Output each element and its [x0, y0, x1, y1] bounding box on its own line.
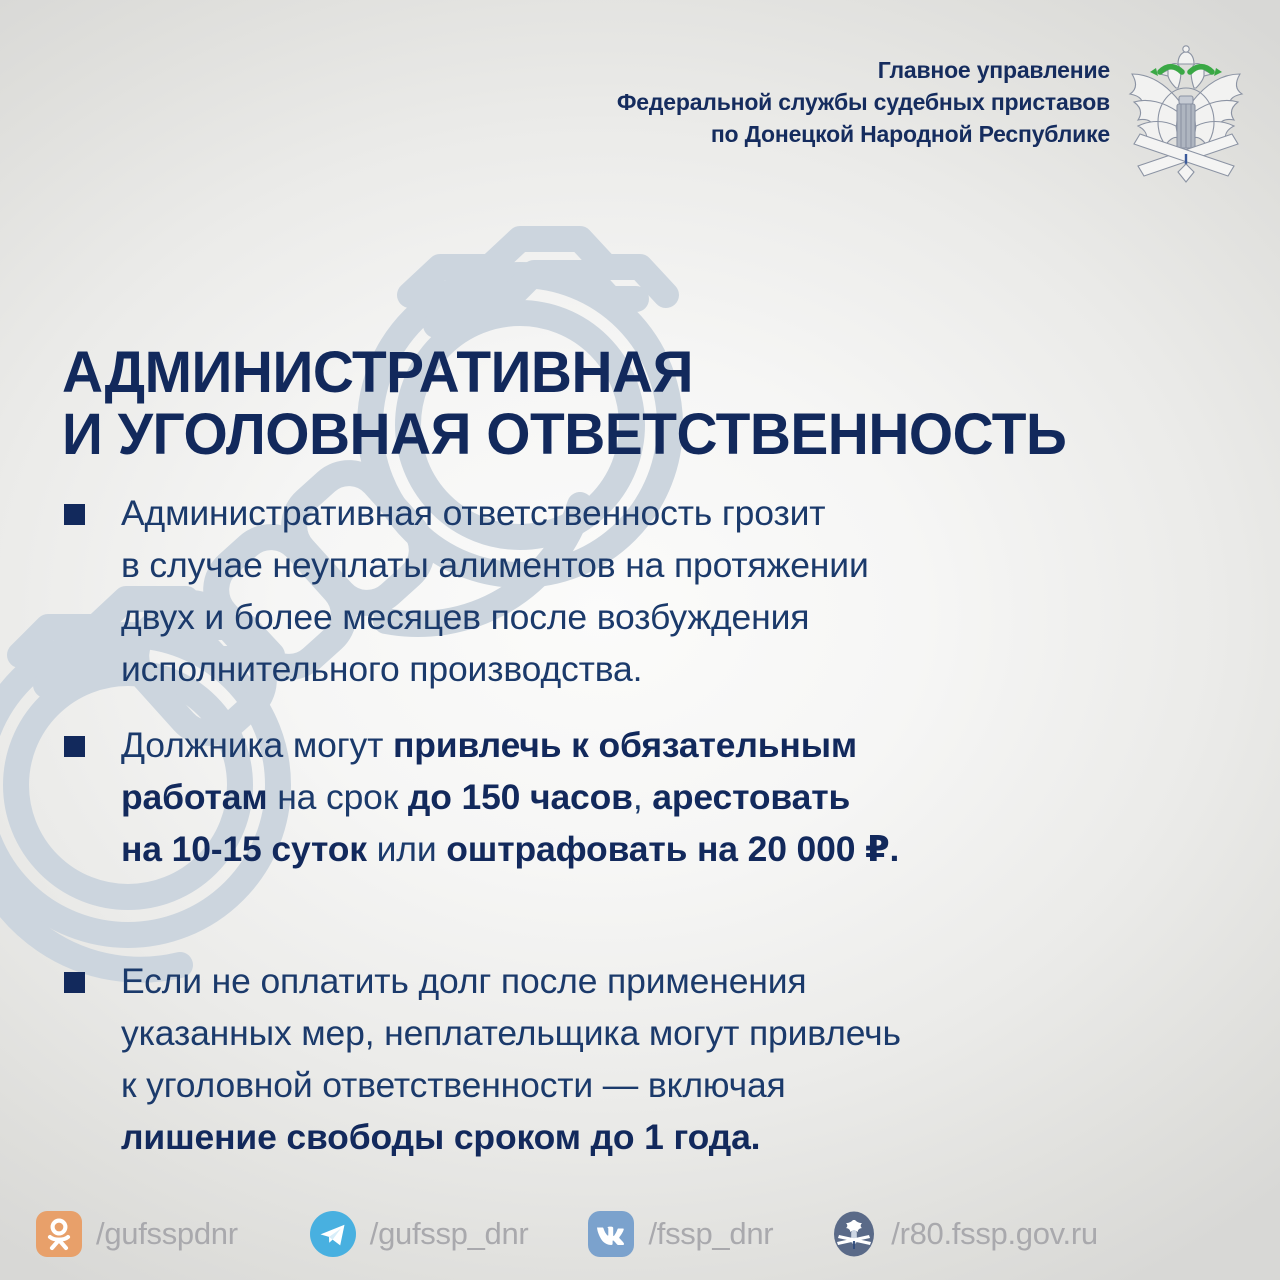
page-title: АДМИНИСТРАТИВНАЯ И УГОЛОВНАЯ ОТВЕТСТВЕНН… [62, 342, 1066, 466]
header-line-2: Федеральной службы судебных приставов [617, 86, 1110, 118]
list-item-text: Должника могут привлечь к обязательнымра… [121, 719, 1224, 875]
list-item: Административная ответственность грозитв… [64, 487, 1224, 695]
square-bullet-icon [64, 504, 85, 525]
header: Главное управление Федеральной службы су… [617, 44, 1252, 184]
odnoklassniki-icon[interactable] [36, 1211, 82, 1257]
social-link-odnoklassniki[interactable]: /gufsspdnr [36, 1211, 238, 1257]
poster-canvas: Главное управление Федеральной службы су… [0, 0, 1280, 1280]
social-label[interactable]: /fssp_dnr [648, 1216, 773, 1252]
header-agency-name: Главное управление Федеральной службы су… [617, 44, 1110, 150]
fssp-emblem-icon [1120, 44, 1252, 184]
social-label[interactable]: /gufssp_dnr [370, 1216, 529, 1252]
list-item: Должника могут привлечь к обязательнымра… [64, 719, 1224, 875]
square-bullet-icon [64, 972, 85, 993]
vk-icon[interactable] [588, 1211, 634, 1257]
social-link-website[interactable]: /r80.fssp.gov.ru [831, 1211, 1098, 1257]
list-item-text: Если не оплатить долг после примененияук… [121, 955, 1224, 1163]
social-link-vk[interactable]: /fssp_dnr [588, 1211, 773, 1257]
fssp-site-icon[interactable] [831, 1211, 877, 1257]
header-line-1: Главное управление [617, 54, 1110, 86]
telegram-icon[interactable] [310, 1211, 356, 1257]
header-line-3: по Донецкой Народной Республике [617, 118, 1110, 150]
list-item-text: Административная ответственность грозитв… [121, 487, 1224, 695]
social-link-telegram[interactable]: /gufssp_dnr [310, 1211, 529, 1257]
footer-social-bar: /gufsspdnr /gufssp_dnr /fssp_dnr [0, 1188, 1280, 1280]
social-label[interactable]: /gufsspdnr [96, 1216, 238, 1252]
bullet-list: Административная ответственность грозитв… [64, 487, 1224, 1163]
list-item: Если не оплатить долг после примененияук… [64, 955, 1224, 1163]
square-bullet-icon [64, 736, 85, 757]
social-label[interactable]: /r80.fssp.gov.ru [891, 1216, 1098, 1252]
